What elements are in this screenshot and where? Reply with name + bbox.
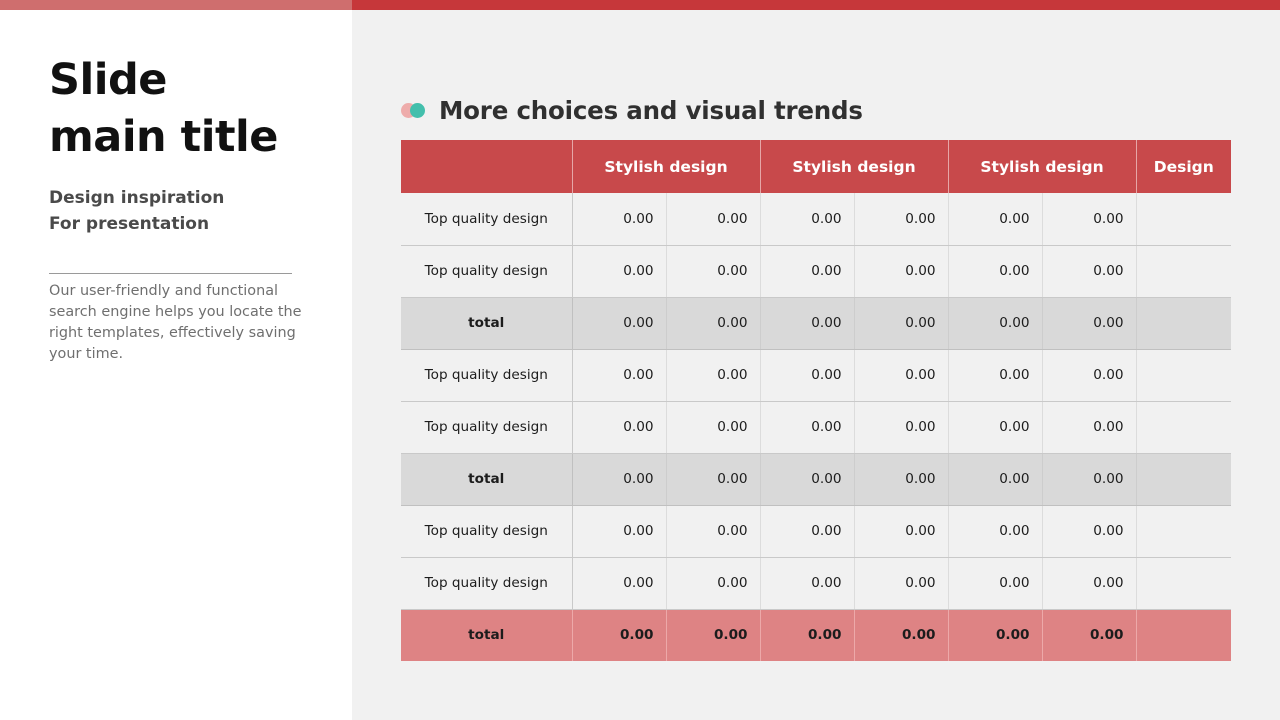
circle-teal-icon [410,103,425,118]
top-accent-bar-left [0,0,352,10]
row-tail-cell [1136,609,1231,661]
row-value-cell: 0.00 [666,609,760,661]
row-tail-cell [1136,297,1231,349]
table-row: Top quality design0.000.000.000.000.000.… [401,557,1231,609]
row-value-cell: 0.00 [666,505,760,557]
row-label-cell: Top quality design [401,349,572,401]
table-row: Top quality design0.000.000.000.000.000.… [401,505,1231,557]
row-value-cell: 0.00 [760,609,854,661]
table-body: Top quality design0.000.000.000.000.000.… [401,193,1231,661]
row-value-cell: 0.00 [1042,349,1136,401]
page-subtitle: Design inspiration For presentation [49,185,321,237]
table-row: total0.000.000.000.000.000.00 [401,453,1231,505]
row-label-cell: total [401,297,572,349]
section-heading: More choices and visual trends [401,85,863,135]
title-block: Slide main title Design inspiration For … [49,52,321,237]
row-value-cell: 0.00 [666,453,760,505]
page-title: Slide main title [49,52,321,166]
row-value-cell: 0.00 [854,401,948,453]
row-value-cell: 0.00 [1042,401,1136,453]
row-value-cell: 0.00 [760,297,854,349]
row-value-cell: 0.00 [948,245,1042,297]
row-value-cell: 0.00 [854,349,948,401]
decorative-dots [401,99,439,121]
row-value-cell: 0.00 [948,401,1042,453]
table-row: total0.000.000.000.000.000.00 [401,609,1231,661]
row-value-cell: 0.00 [948,505,1042,557]
row-label-cell: Top quality design [401,245,572,297]
table-head: Stylish designStylish designStylish desi… [401,140,1231,193]
row-label-cell: Top quality design [401,401,572,453]
row-value-cell: 0.00 [666,557,760,609]
row-value-cell: 0.00 [1042,297,1136,349]
row-value-cell: 0.00 [760,557,854,609]
row-label-cell: total [401,609,572,661]
row-value-cell: 0.00 [666,401,760,453]
row-value-cell: 0.00 [854,505,948,557]
table-row: Top quality design0.000.000.000.000.000.… [401,401,1231,453]
row-value-cell: 0.00 [760,453,854,505]
row-value-cell: 0.00 [948,349,1042,401]
row-value-cell: 0.00 [572,245,666,297]
row-tail-cell [1136,349,1231,401]
row-value-cell: 0.00 [948,453,1042,505]
section-heading-label: More choices and visual trends [439,96,863,125]
row-value-cell: 0.00 [854,193,948,245]
table-row: Top quality design0.000.000.000.000.000.… [401,245,1231,297]
row-value-cell: 0.00 [854,297,948,349]
table-header-cell: Stylish design [572,140,760,193]
row-value-cell: 0.00 [666,245,760,297]
row-value-cell: 0.00 [1042,609,1136,661]
row-value-cell: 0.00 [948,193,1042,245]
row-value-cell: 0.00 [948,609,1042,661]
table-header-row: Stylish designStylish designStylish desi… [401,140,1231,193]
content-area: More choices and visual trends Stylish d… [352,10,1280,720]
row-value-cell: 0.00 [572,453,666,505]
row-value-cell: 0.00 [760,349,854,401]
row-value-cell: 0.00 [572,557,666,609]
table-row: Top quality design0.000.000.000.000.000.… [401,349,1231,401]
row-value-cell: 0.00 [854,609,948,661]
table-header-blank [401,140,572,193]
table-row: Top quality design0.000.000.000.000.000.… [401,193,1231,245]
row-label-cell: Top quality design [401,193,572,245]
table-container: Stylish designStylish designStylish desi… [401,140,1231,661]
row-value-cell: 0.00 [760,401,854,453]
body-paragraph: Our user-friendly and functional search … [49,281,307,365]
row-value-cell: 0.00 [948,557,1042,609]
row-value-cell: 0.00 [572,193,666,245]
table-row: total0.000.000.000.000.000.00 [401,297,1231,349]
table-header-cell: Stylish design [760,140,948,193]
slide-root: Slide main title Design inspiration For … [0,0,1280,720]
table-header-cell: Design [1136,140,1231,193]
row-value-cell: 0.00 [572,349,666,401]
row-value-cell: 0.00 [1042,245,1136,297]
top-accent-bar-right [352,0,1280,10]
row-value-cell: 0.00 [854,557,948,609]
row-value-cell: 0.00 [572,505,666,557]
row-value-cell: 0.00 [666,297,760,349]
divider [49,273,292,274]
row-value-cell: 0.00 [666,193,760,245]
row-value-cell: 0.00 [760,193,854,245]
row-value-cell: 0.00 [1042,557,1136,609]
row-value-cell: 0.00 [760,505,854,557]
data-table: Stylish designStylish designStylish desi… [401,140,1231,661]
row-tail-cell [1136,401,1231,453]
row-value-cell: 0.00 [948,297,1042,349]
row-tail-cell [1136,557,1231,609]
row-tail-cell [1136,193,1231,245]
row-label-cell: total [401,453,572,505]
table-header-cell: Stylish design [948,140,1136,193]
row-tail-cell [1136,245,1231,297]
row-tail-cell [1136,505,1231,557]
row-label-cell: Top quality design [401,557,572,609]
row-label-cell: Top quality design [401,505,572,557]
row-tail-cell [1136,453,1231,505]
row-value-cell: 0.00 [760,245,854,297]
row-value-cell: 0.00 [572,401,666,453]
row-value-cell: 0.00 [854,453,948,505]
row-value-cell: 0.00 [1042,505,1136,557]
row-value-cell: 0.00 [854,245,948,297]
row-value-cell: 0.00 [666,349,760,401]
row-value-cell: 0.00 [572,297,666,349]
row-value-cell: 0.00 [1042,453,1136,505]
left-panel: Slide main title Design inspiration For … [0,10,352,720]
row-value-cell: 0.00 [1042,193,1136,245]
row-value-cell: 0.00 [572,609,666,661]
